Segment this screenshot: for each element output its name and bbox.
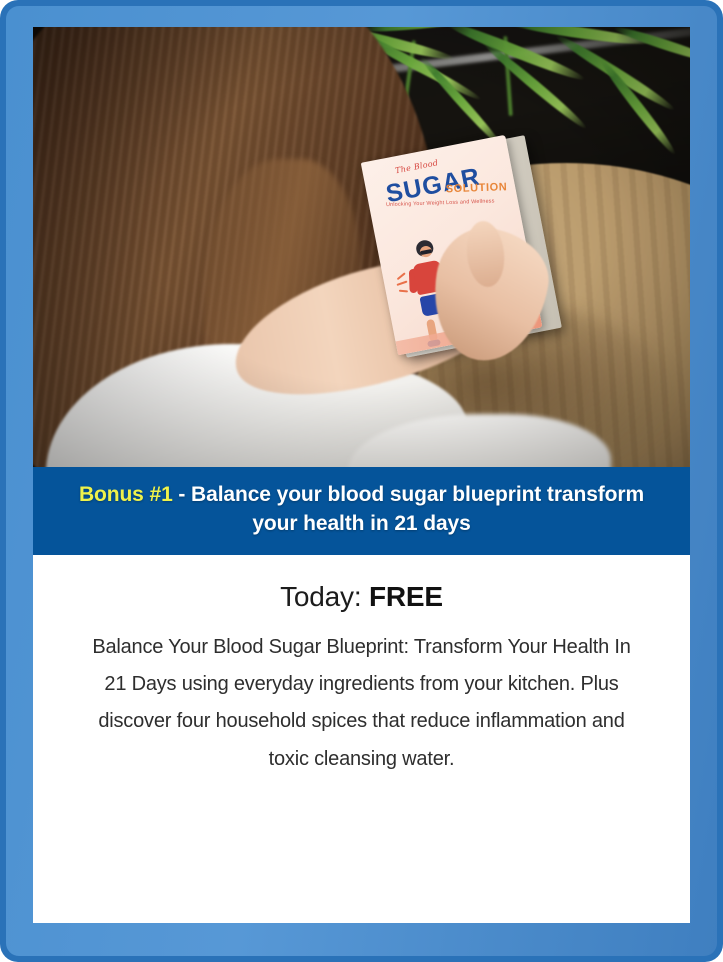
photo-vignette <box>33 27 690 467</box>
price-prefix: Today: <box>280 581 369 612</box>
bonus-offer-card[interactable]: The Blood SUGAR SOLUTION Unlocking Your … <box>33 27 690 923</box>
book-accent-line <box>399 290 408 292</box>
bonus-number-label: Bonus #1 <box>79 483 173 506</box>
book-subtitle: SOLUTION <box>445 181 507 195</box>
banner-separator: - <box>173 483 191 506</box>
banner-headline: Balance your blood sugar blueprint trans… <box>191 483 644 535</box>
offer-card-inner-frame: The Blood SUGAR SOLUTION Unlocking Your … <box>6 6 717 956</box>
book-accent-line <box>397 272 406 280</box>
bonus-banner: Bonus #1 - Balance your blood sugar blue… <box>33 467 690 555</box>
bonus-product-photo: The Blood SUGAR SOLUTION Unlocking Your … <box>33 27 690 467</box>
offer-card-outer-frame: The Blood SUGAR SOLUTION Unlocking Your … <box>0 0 723 962</box>
price-line: Today: FREE <box>89 581 634 613</box>
book-accent-line <box>396 281 407 286</box>
bonus-description: Balance Your Blood Sugar Blueprint: Tran… <box>89 629 634 778</box>
bonus-content: Today: FREE Balance Your Blood Sugar Blu… <box>33 555 690 923</box>
price-value: FREE <box>369 581 443 612</box>
